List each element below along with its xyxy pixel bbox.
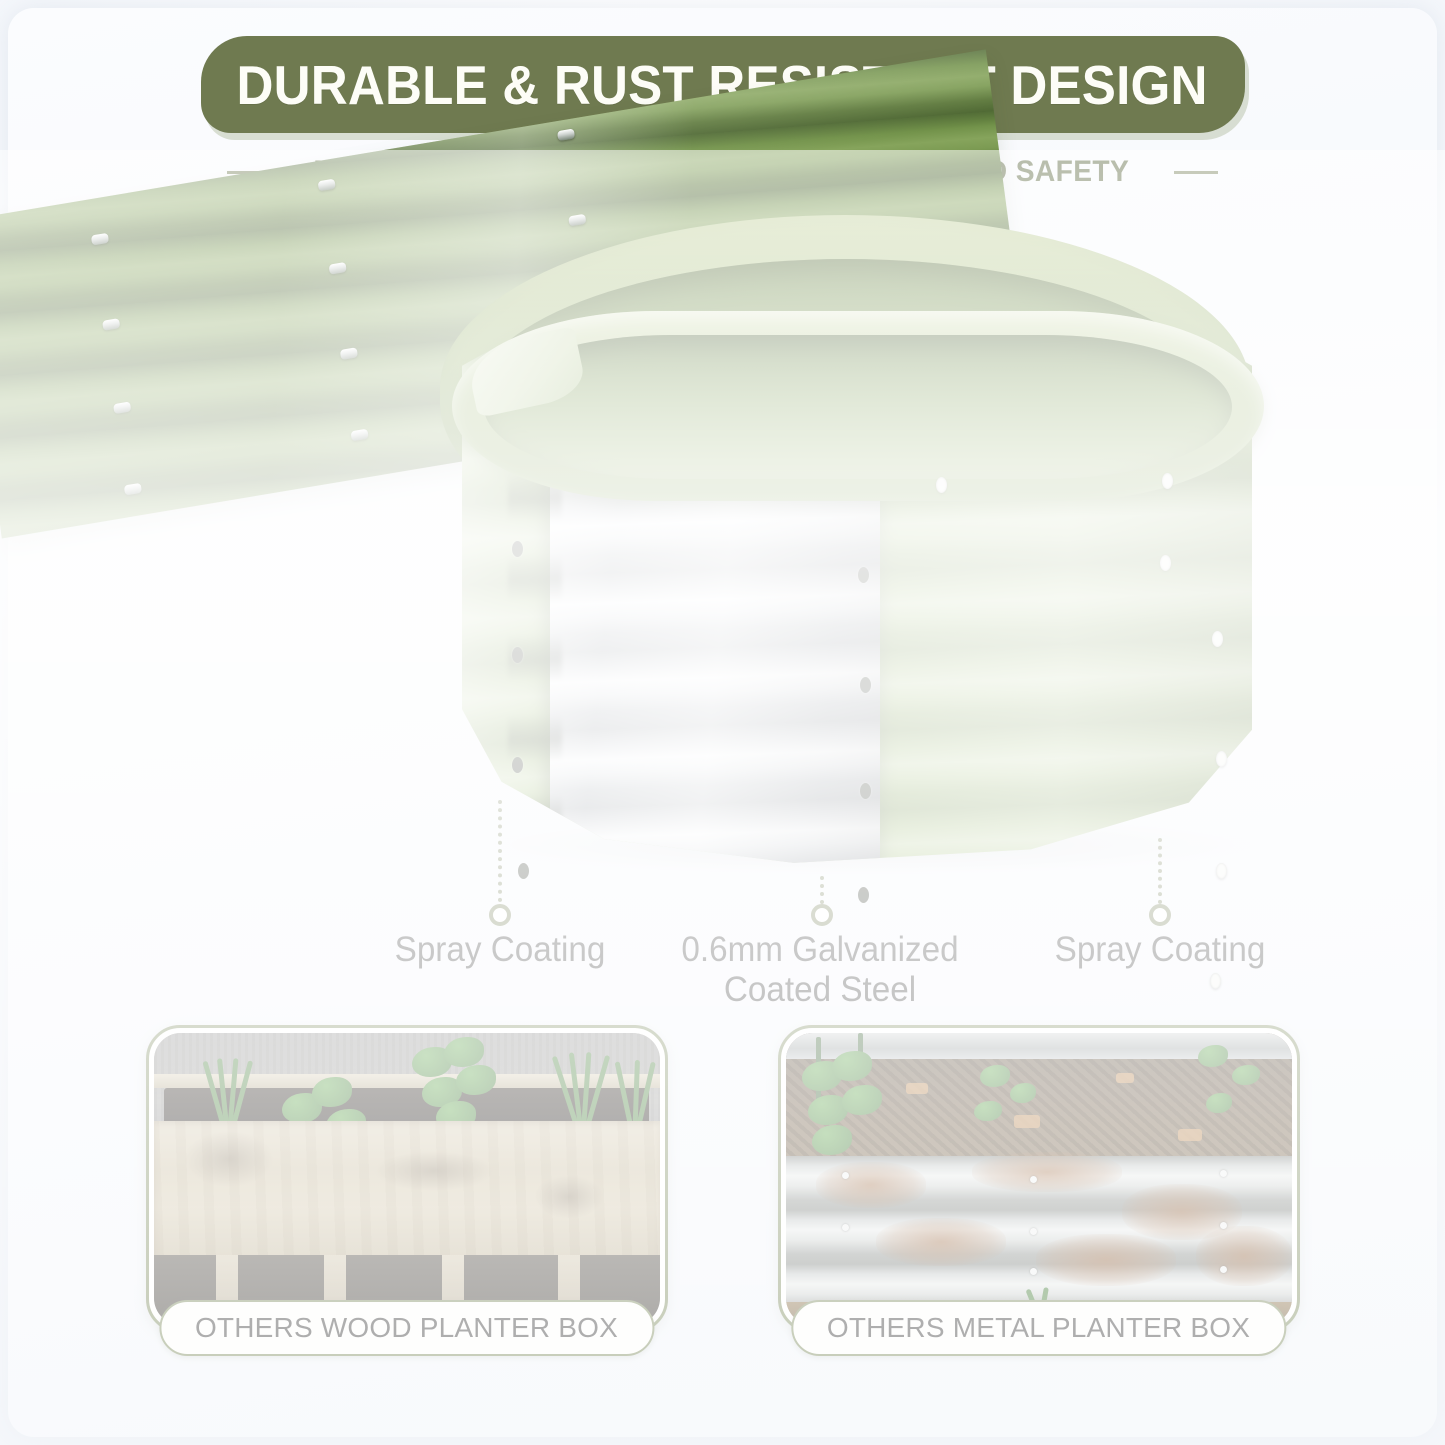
rivet-hole	[512, 757, 523, 773]
rust-stain	[876, 1218, 1006, 1266]
tomato-seedling	[974, 1057, 1070, 1149]
rivet-hole	[1216, 751, 1227, 767]
leader-dot-center	[811, 904, 833, 926]
planter-front-board	[154, 1121, 660, 1261]
rust-stain	[972, 1152, 1122, 1192]
comparison-card-wood[interactable]: OTHERS WOOD PLANTER BOX	[146, 1025, 668, 1333]
callout-center-line2: Coated Steel	[619, 970, 1022, 1010]
rivet-hole	[1160, 555, 1171, 571]
rust-stain	[1196, 1226, 1292, 1286]
rivet-hole	[518, 863, 529, 879]
corrugated-metal-wall	[786, 1156, 1292, 1305]
leader-line-center	[820, 876, 824, 904]
comparison-card-metal[interactable]: OTHERS METAL PLANTER BOX	[778, 1025, 1300, 1333]
card-label-wood: OTHERS WOOD PLANTER BOX	[159, 1300, 654, 1356]
leader-line-right	[1158, 838, 1162, 904]
leader-line-left	[498, 800, 502, 902]
pepper-plant	[802, 1051, 898, 1143]
card-label-metal: OTHERS METAL PLANTER BOX	[791, 1300, 1286, 1356]
tomato-seedling	[1198, 1043, 1292, 1135]
rivet-hole	[858, 887, 869, 903]
rust-stain	[816, 1162, 926, 1208]
rust-stain	[1036, 1234, 1176, 1286]
rivet-hole	[860, 677, 871, 693]
rivet-hole	[1212, 631, 1223, 647]
rivet-hole	[512, 647, 523, 663]
leader-dot-left	[489, 904, 511, 926]
bed-opening	[484, 335, 1232, 479]
rivet-hole	[512, 541, 523, 557]
dash-right-icon	[1174, 171, 1218, 174]
rivet-hole	[858, 567, 869, 583]
rivet-hole	[1210, 973, 1221, 989]
basil-plant	[410, 1037, 506, 1129]
page-background: DURABLE & RUST RESISTANT DESIGN TRIPLE C…	[0, 0, 1445, 1445]
metal-planter-photo	[786, 1033, 1292, 1325]
rivet-hole	[936, 477, 947, 493]
comparison-cards: OTHERS WOOD PLANTER BOX	[0, 1025, 1445, 1333]
wood-planter-photo	[154, 1033, 660, 1325]
product-hero-image	[0, 215, 1445, 895]
leader-dot-right	[1149, 904, 1171, 926]
callout-right: Spray Coating	[959, 930, 1362, 970]
callout-right-line1: Spray Coating	[959, 930, 1362, 970]
rivet-hole	[860, 783, 871, 799]
rivet-hole	[1162, 473, 1173, 489]
rivet-hole	[1216, 863, 1227, 879]
